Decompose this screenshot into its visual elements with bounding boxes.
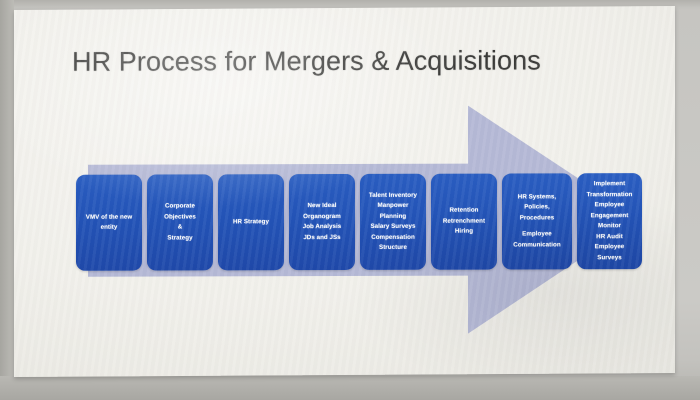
process-step-line: Organogram — [303, 212, 341, 223]
process-step-line: HR Audit — [596, 232, 623, 243]
process-step-hr-strategy[interactable]: HR Strategy — [218, 174, 284, 270]
process-step-implement-transformation-monitor[interactable]: ImplementTransformationEmployeeEngagemen… — [577, 173, 642, 269]
presentation-slide: HR Process for Mergers & Acquisitions VM… — [14, 6, 675, 377]
page-title: HR Process for Mergers & Acquisitions — [72, 45, 541, 77]
process-step-line: Strategy — [167, 233, 192, 244]
process-step-list: VMV of the newentityCorporateObjectives&… — [76, 173, 642, 271]
process-step-line: VMV of the new — [86, 212, 132, 223]
process-step-line: Manpower — [378, 201, 409, 212]
process-step-line: Objectives — [164, 212, 196, 223]
process-step-line: & — [178, 222, 183, 233]
process-step-line: Retrenchment — [443, 216, 485, 227]
photograph-of-projected-slide: HR Process for Mergers & Acquisitions VM… — [0, 0, 700, 400]
process-step-line: Hiring — [455, 227, 473, 238]
process-step-line: Corporate — [165, 201, 195, 212]
process-step-talent-inventory-compensation[interactable]: Talent InventoryManpowerPlanningSalary S… — [360, 174, 426, 270]
process-step-hr-systems-policies-communication[interactable]: HR Systems,Policies,ProceduresEmployeeCo… — [502, 173, 572, 269]
process-step-line: Monitor — [598, 221, 621, 232]
frame-bottom-edge — [0, 376, 700, 400]
process-step-line: HR Strategy — [233, 217, 269, 228]
process-step-line: Surveys — [597, 253, 621, 264]
process-step-line: entity — [101, 223, 118, 234]
process-step-line: Employee — [595, 200, 625, 211]
process-step-line: Transformation — [587, 190, 633, 201]
process-step-line: Structure — [379, 243, 407, 254]
process-step-vmv-of-the-new-entity[interactable]: VMV of the newentity — [76, 175, 142, 271]
process-step-line: Talent Inventory — [369, 190, 417, 201]
process-step-line: HR Systems, — [518, 192, 556, 203]
process-step-line: Procedures — [520, 213, 555, 224]
process-step-line: Employee — [522, 230, 552, 241]
process-step-line: New Ideal — [308, 201, 337, 212]
process-step-line: JDs and JSs — [303, 233, 340, 244]
process-step-corporate-objectives-and-strategy[interactable]: CorporateObjectives&Strategy — [147, 174, 213, 270]
process-step-line: Job Analysis — [303, 222, 342, 233]
process-step-retention-retrenchment-hiring[interactable]: RetentionRetrenchmentHiring — [431, 174, 497, 270]
process-step-line: Salary Surveys — [370, 222, 415, 233]
process-step-line: Implement — [594, 179, 625, 190]
process-step-line: Engagement — [591, 211, 629, 222]
process-step-line: Compensation — [371, 232, 415, 243]
process-step-line: Planning — [380, 211, 407, 222]
process-step-line: Policies, — [524, 203, 550, 214]
process-step-line: Retention — [450, 206, 479, 217]
process-step-line: Employee — [595, 242, 625, 253]
process-step-line: Communication — [513, 240, 560, 251]
process-step-organogram-job-analysis[interactable]: New IdealOrganogramJob AnalysisJDs and J… — [289, 174, 355, 270]
frame-left-edge — [0, 0, 14, 400]
